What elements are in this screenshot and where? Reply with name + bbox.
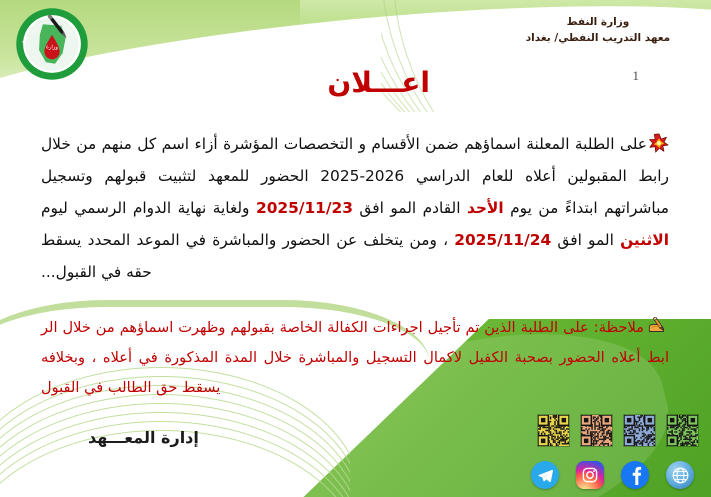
collision-icon: [649, 133, 669, 153]
main-paragraph: على الطلبة المعلنة اسماؤهم ضمن الأقسام و…: [41, 129, 669, 288]
highlighted-text: الأحد: [467, 199, 504, 217]
institute-name: معهد التدريب النفطي/ بغداد: [503, 30, 693, 46]
highlighted-text: 2025/11/23: [256, 199, 353, 217]
qr-code-facebook[interactable]: [623, 414, 656, 447]
body-text: القادم المو افق: [353, 199, 467, 217]
body-text: ، ومن يتخلف عن الحضور والمباشرة في الموع…: [41, 231, 454, 281]
ministry-header: وزارة النفط معهد التدريب النفطي/ بغداد: [503, 14, 693, 47]
ministry-name: وزارة النفط: [503, 14, 693, 30]
note-paragraph: ملاحظة: على الطلبة الذين تم تأجيل اجراءا…: [41, 313, 669, 403]
signature-label: إدارة المعـــهد: [88, 428, 199, 447]
page-title: اعـــلان: [327, 66, 430, 99]
page-mark: 1: [633, 68, 640, 84]
body-text: المو افق: [551, 231, 620, 249]
announcement-page: وزارة Baghdad Oil Training Institute معه…: [0, 0, 711, 497]
instagram-icon[interactable]: [576, 461, 604, 489]
telegram-icon[interactable]: [531, 461, 559, 489]
highlighted-text: 2025/11/24: [454, 231, 551, 249]
writing-hand-icon: [647, 316, 669, 334]
qr-code-row: [537, 414, 699, 447]
qr-code-instagram[interactable]: [580, 414, 613, 447]
institute-logo-icon: وزارة Baghdad Oil Training Institute معه…: [14, 6, 90, 82]
highlighted-text: الاثنين: [620, 231, 669, 249]
social-links-row: [531, 461, 694, 489]
qr-code-website[interactable]: [666, 414, 699, 447]
body-text: ولغاية نهاية الدوام الرسمي ليوم: [41, 199, 256, 217]
note-paragraph-text: ملاحظة: على الطلبة الذين تم تأجيل اجراءا…: [41, 319, 669, 396]
website-icon[interactable]: [666, 461, 694, 489]
qr-code-telegram[interactable]: [537, 414, 570, 447]
facebook-icon[interactable]: [621, 461, 649, 489]
main-paragraph-text: على الطلبة المعلنة اسماؤهم ضمن الأقسام و…: [41, 135, 669, 281]
svg-text:وزارة: وزارة: [46, 45, 58, 51]
